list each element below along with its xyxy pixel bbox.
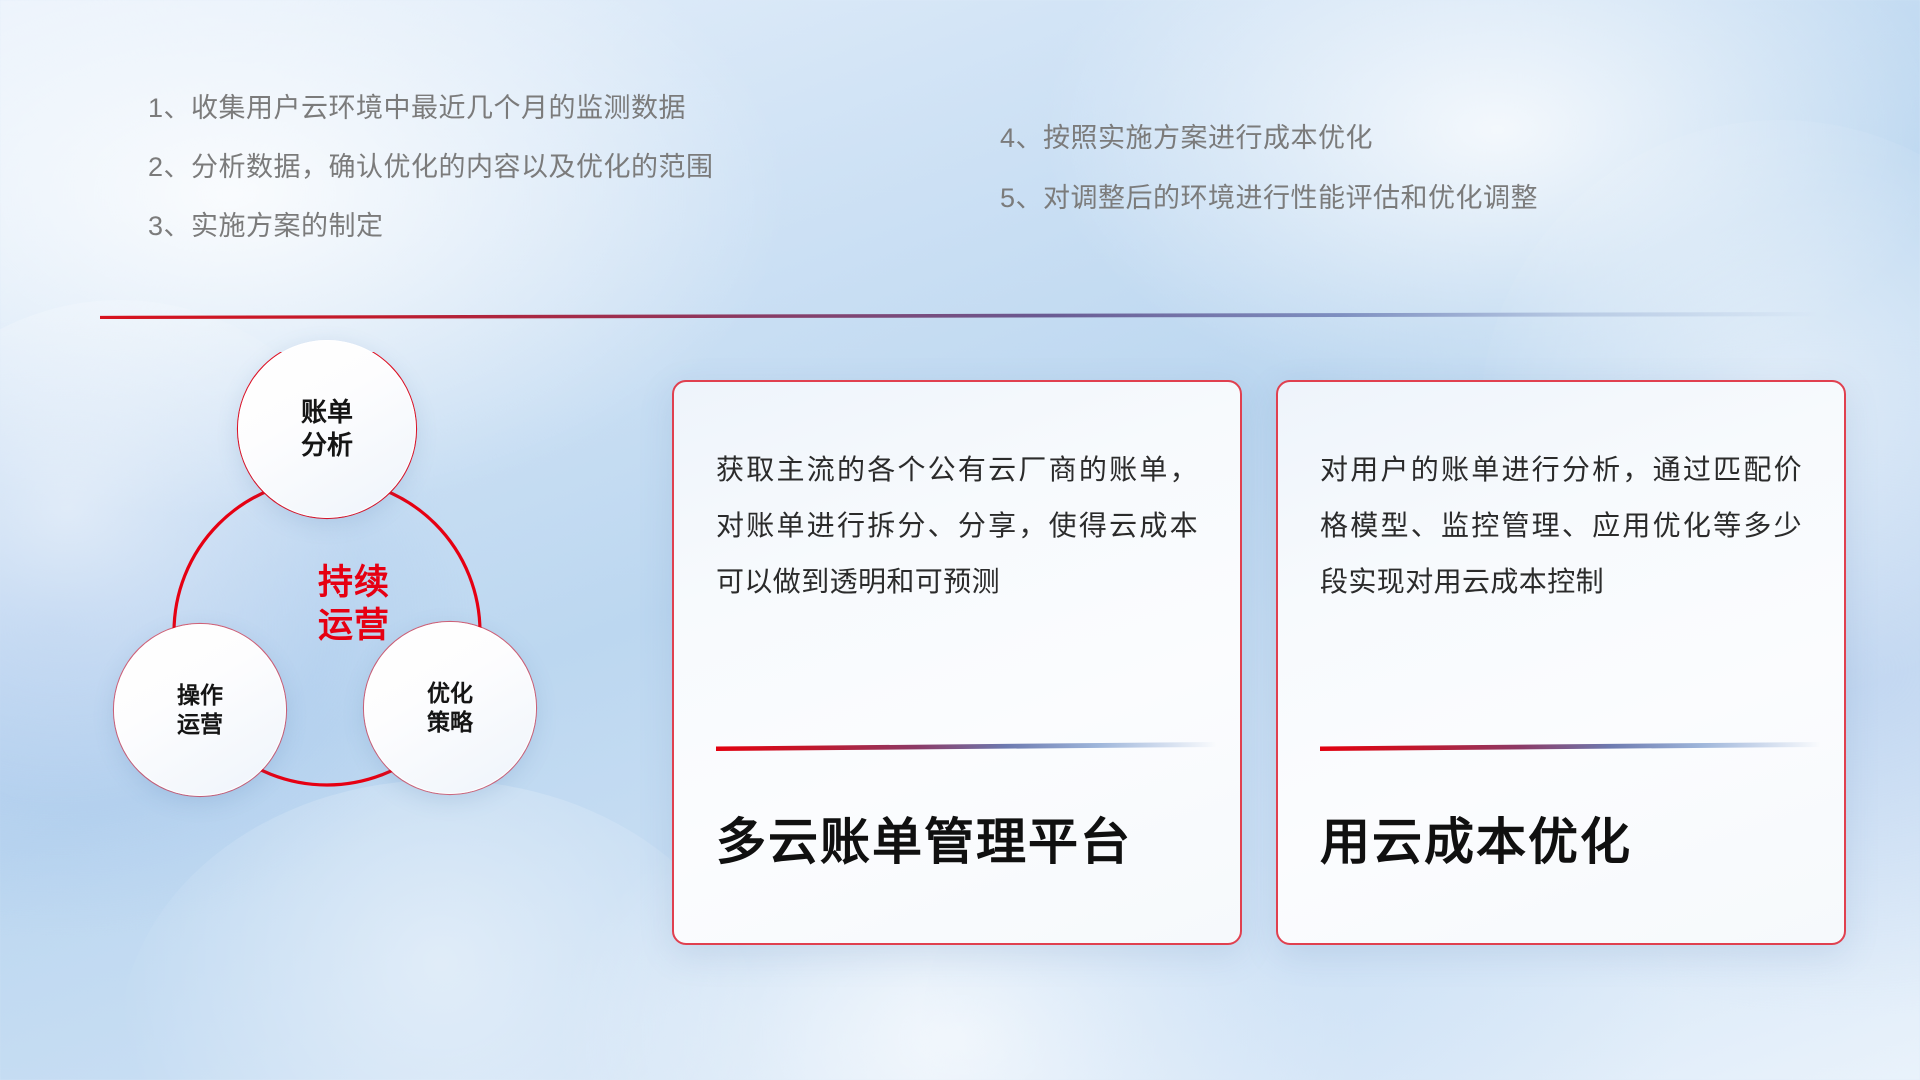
bubble-bill-analysis-line1: 账单 [301, 396, 353, 429]
bubble-operations-line1: 操作 [177, 681, 223, 710]
card-cloud-cost-optimization-title: 用云成本优化 [1320, 802, 1632, 874]
step-item-1: 1、收集用户云环境中最近几个月的监测数据 [148, 95, 714, 122]
card-multicloud-billing[interactable]: 获取主流的各个公有云厂商的账单，对账单进行拆分、分享，使得云成本可以做到透明和可… [672, 380, 1242, 945]
step-item-2: 2、分析数据，确认优化的内容以及优化的范围 [148, 154, 714, 181]
step-item-5: 5、对调整后的环境进行性能评估和优化调整 [1000, 185, 1538, 212]
steps-column-right: 4、按照实施方案进行成本优化 5、对调整后的环境进行性能评估和优化调整 [1000, 125, 1538, 245]
cycle-diagram: 账单 分析 操作 运营 优化 策略 持续 运营 [96, 352, 616, 912]
card-multicloud-billing-body: 获取主流的各个公有云厂商的账单，对账单进行拆分、分享，使得云成本可以做到透明和可… [716, 442, 1198, 610]
card-cloud-cost-optimization-body: 对用户的账单进行分析，通过匹配价格模型、监控管理、应用优化等多少段实现对用云成本… [1320, 442, 1802, 610]
bubble-operations[interactable]: 操作 运营 [114, 624, 286, 796]
card-multicloud-billing-rule [716, 742, 1216, 751]
step-item-3: 3、实施方案的制定 [148, 213, 714, 240]
bubble-operations-line2: 运营 [177, 710, 223, 739]
bubble-optimization-strategy[interactable]: 优化 策略 [364, 622, 536, 794]
bubble-optimization-strategy-line2: 策略 [427, 708, 473, 737]
diagram-center-line2: 运营 [264, 605, 444, 648]
bubble-bill-analysis-line2: 分析 [301, 429, 353, 462]
diagram-center-label: 持续 运营 [264, 562, 444, 647]
steps-column-left: 1、收集用户云环境中最近几个月的监测数据 2、分析数据，确认优化的内容以及优化的… [148, 95, 714, 272]
card-cloud-cost-optimization-rule [1320, 742, 1820, 751]
section-divider-rule [100, 312, 1820, 319]
bubble-bill-analysis[interactable]: 账单 分析 [238, 340, 416, 518]
card-multicloud-billing-title: 多云账单管理平台 [716, 802, 1132, 874]
card-cloud-cost-optimization[interactable]: 对用户的账单进行分析，通过匹配价格模型、监控管理、应用优化等多少段实现对用云成本… [1276, 380, 1846, 945]
step-item-4: 4、按照实施方案进行成本优化 [1000, 125, 1538, 152]
diagram-center-line1: 持续 [264, 562, 444, 605]
bubble-optimization-strategy-line1: 优化 [427, 679, 473, 708]
